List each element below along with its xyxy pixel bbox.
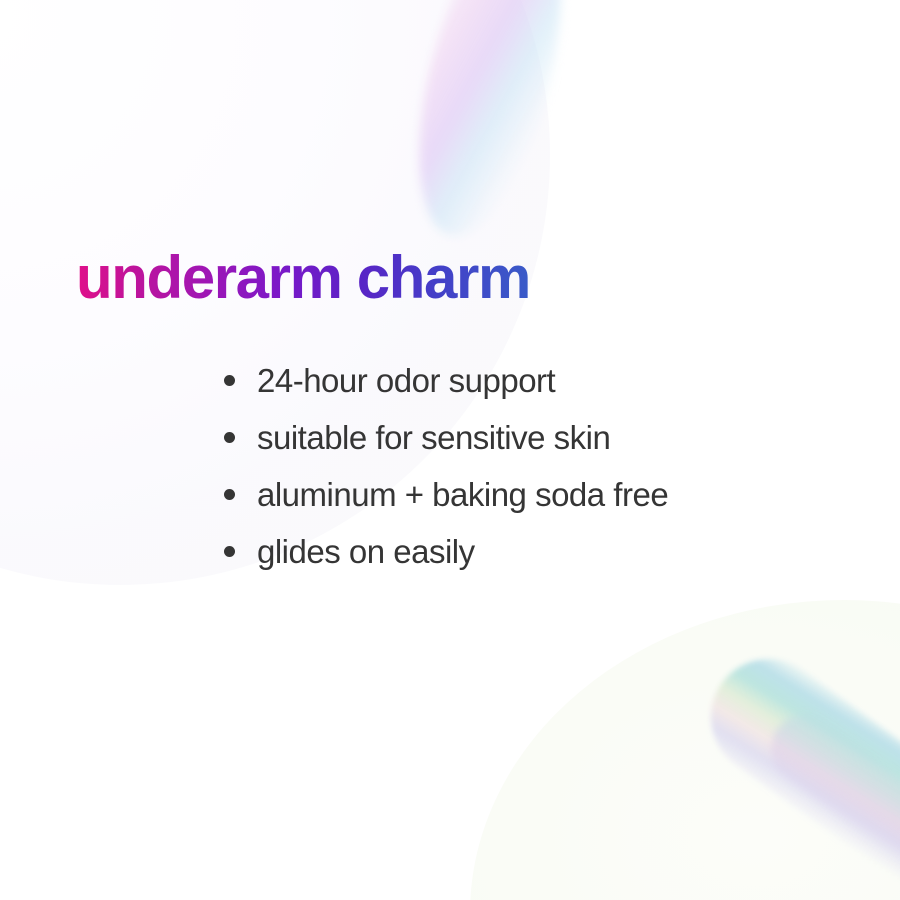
bullet-dot-icon [224,375,235,386]
list-item: suitable for sensitive skin [224,409,668,466]
list-item: 24-hour odor support [224,352,668,409]
feature-list: 24-hour odor support suitable for sensit… [224,352,668,580]
feature-label: 24-hour odor support [257,362,555,400]
feature-label: glides on easily [257,533,475,571]
bullet-dot-icon [224,546,235,557]
feature-label: aluminum + baking soda free [257,476,668,514]
product-feature-graphic: underarm charm 24-hour odor support suit… [0,0,900,900]
content-layer: underarm charm 24-hour odor support suit… [0,0,900,900]
bullet-dot-icon [224,489,235,500]
feature-label: suitable for sensitive skin [257,419,610,457]
bullet-dot-icon [224,432,235,443]
list-item: glides on easily [224,523,668,580]
page-title: underarm charm [76,246,530,309]
list-item: aluminum + baking soda free [224,466,668,523]
